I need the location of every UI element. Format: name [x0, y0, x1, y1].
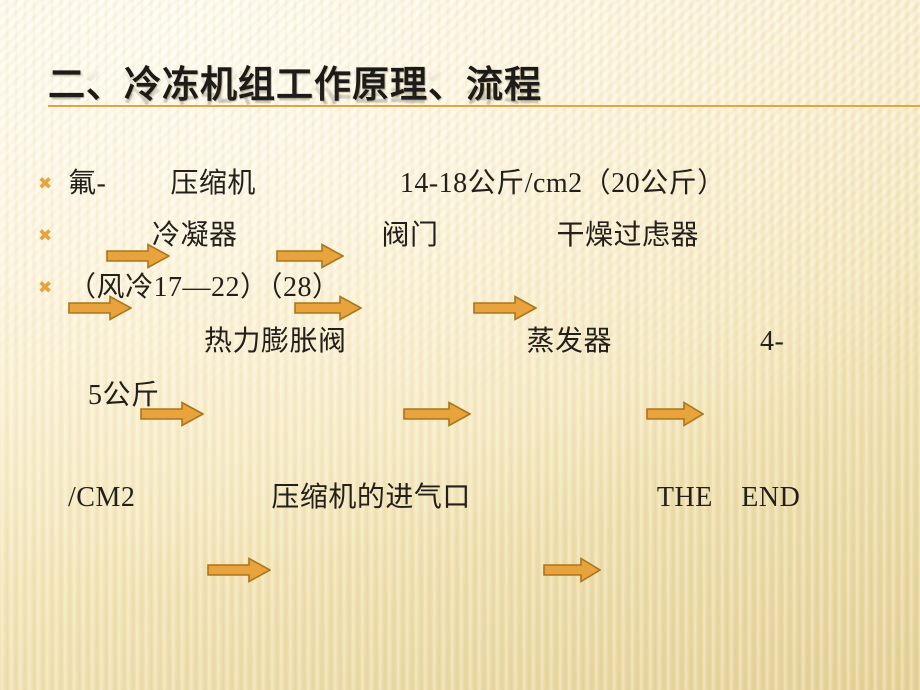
flow-arrow-icon — [473, 223, 537, 249]
flow-arrow-icon — [68, 223, 132, 249]
slide-body: ✖ 氟- 压缩机 14-18公斤/cm2（20公斤） — [34, 158, 896, 526]
bullet-line-refrigerant-compressor: ✖ 氟- 压缩机 14-18公斤/cm2（20公斤） — [34, 158, 896, 210]
bullet-marker-icon: ✖ — [34, 270, 68, 306]
flow-arrow-icon — [403, 329, 471, 355]
text-valve: 阀门 — [382, 218, 439, 254]
text-cm2-unit: /CM2 — [68, 480, 135, 516]
slide-canvas: 二、冷冻机组工作原理、流程 二、冷冻机组工作原理、流程 ✖ 氟- 压缩机 — [0, 0, 920, 690]
bullet-marker-icon: ✖ — [34, 166, 68, 202]
flow-arrow-icon — [207, 485, 271, 511]
text-refrigerant: 氟- — [68, 166, 106, 202]
bullet-marker-icon: ✖ — [34, 218, 68, 254]
text-evaporator: 蒸发器 — [527, 324, 613, 360]
page-title-reflection: 二、冷冻机组工作原理、流程 — [48, 62, 542, 108]
flow-arrow-icon — [294, 223, 362, 249]
text-pressure-tail: 4- — [760, 324, 784, 360]
text-pressure-range: 14-18公斤/cm2（20公斤） — [400, 166, 726, 202]
flow-arrow-icon — [646, 329, 704, 355]
flow-arrow-icon — [106, 171, 170, 197]
flow-arrow-icon — [140, 329, 204, 355]
bullet-marker-placeholder: ✖ — [34, 324, 68, 360]
text-compressor: 压缩机 — [170, 166, 256, 202]
slide-title-block: 二、冷冻机组工作原理、流程 二、冷冻机组工作原理、流程 — [48, 62, 898, 152]
bullet-marker-placeholder: ✖ — [34, 480, 68, 516]
bullet-marker-placeholder: ✖ — [34, 378, 68, 414]
text-dryer-filter: 干燥过虑器 — [557, 218, 700, 254]
flow-arrow-icon — [543, 485, 601, 511]
title-underline-rule — [48, 105, 920, 107]
flow-arrow-icon — [276, 171, 344, 197]
